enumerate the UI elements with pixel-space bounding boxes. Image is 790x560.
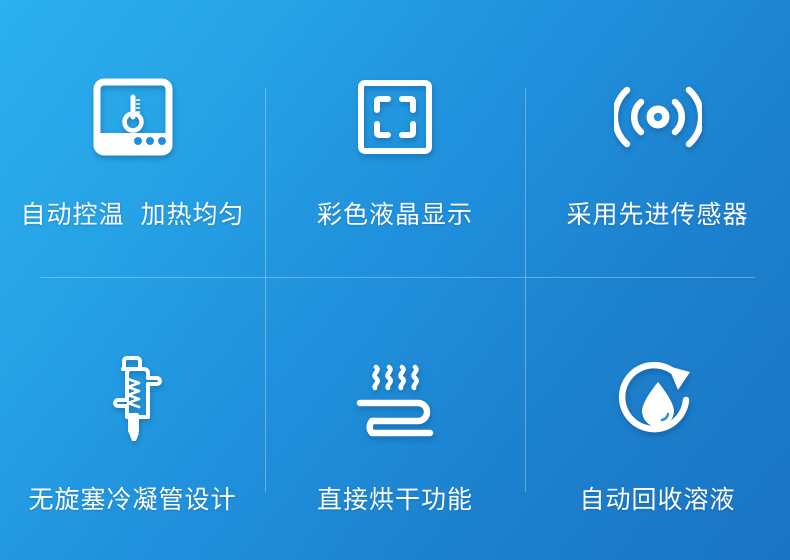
thermostat-display-icon	[93, 71, 173, 163]
feature-label: 彩色液晶显示	[317, 203, 473, 228]
feature-cell-advanced-sensor: 采用先进传感器	[525, 0, 790, 277]
feature-cell-color-lcd: 彩色液晶显示	[265, 0, 525, 277]
feature-cell-condenser-design: 无旋塞冷凝管设计	[0, 277, 265, 560]
wireless-sensor-signal-icon	[614, 71, 702, 163]
feature-cell-solvent-recovery: 自动回收溶液	[525, 277, 790, 560]
feature-label: 自动回收溶液	[579, 488, 735, 513]
feature-label: 采用先进传感器	[566, 203, 748, 228]
feature-label: 无旋塞冷凝管设计	[28, 488, 236, 513]
recycle-water-droplet-icon	[616, 354, 700, 446]
feature-label: 直接烘干功能	[317, 488, 473, 513]
feature-label: 自动控温 加热均匀	[21, 203, 245, 228]
feature-cell-auto-temperature: 自动控温 加热均匀	[0, 0, 265, 277]
heat-drying-waves-icon	[354, 354, 436, 446]
feature-highlights-panel: 自动控温 加热均匀 彩色液晶显示	[0, 0, 790, 560]
lcd-screen-frame-icon	[357, 71, 433, 163]
condenser-coil-tube-icon	[103, 354, 163, 446]
feature-cell-direct-drying: 直接烘干功能	[265, 277, 525, 560]
feature-grid: 自动控温 加热均匀 彩色液晶显示	[0, 0, 790, 560]
